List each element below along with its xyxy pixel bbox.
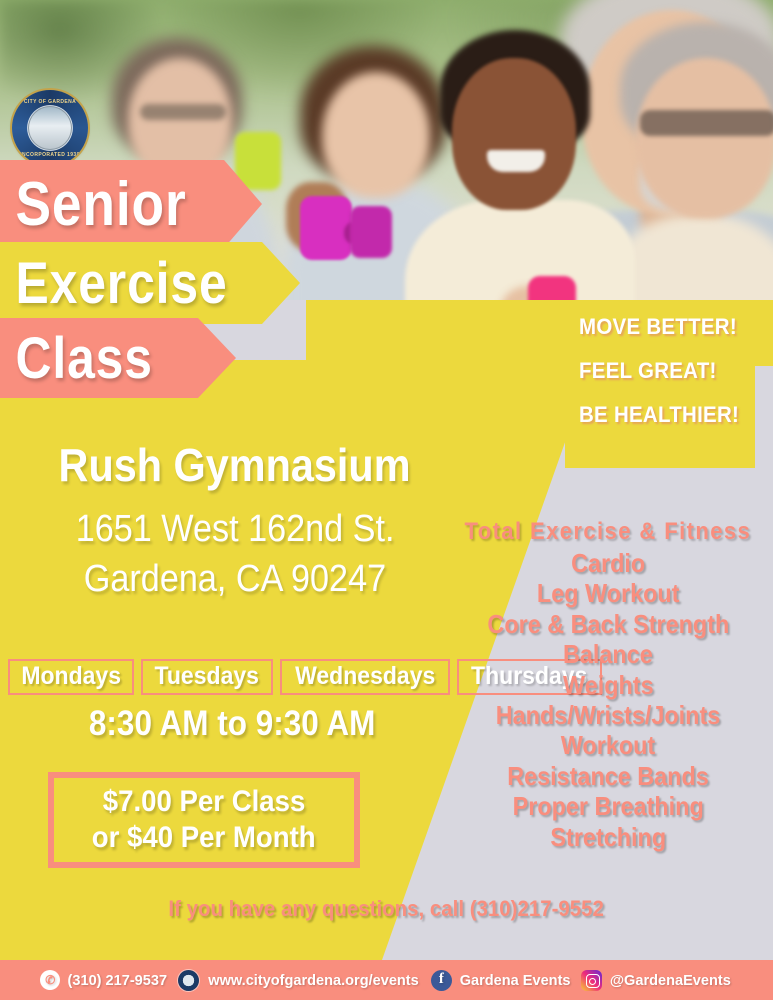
exercise-item: Core & Back Strength <box>443 609 773 639</box>
day-tag-wednesday-label: Wednesdays <box>295 663 435 689</box>
footer-website-label: www.cityofgardena.org/events <box>208 972 418 989</box>
venue-street: 1651 West 162nd St. <box>0 508 470 551</box>
footer-phone[interactable]: ✆ (310) 217-9537 <box>40 970 169 990</box>
facebook-icon: f <box>431 970 452 991</box>
exercise-list-title-text: Total Exercise & Fitness <box>465 518 752 546</box>
title-banner-senior: Senior <box>0 160 262 248</box>
pricing-line-1-text: $7.00 Per Class <box>103 784 306 820</box>
title-banner-exercise: Exercise <box>0 242 300 324</box>
venue-city-state-zip: Gardena, CA 90247 <box>0 558 470 601</box>
footer-website[interactable]: www.cityofgardena.org/events <box>178 970 422 991</box>
questions-line-text: If you have any questions, call (310)217… <box>169 896 605 922</box>
dumbbell-magenta-end-b <box>350 206 392 258</box>
footer-contact-bar: ✆ (310) 217-9537 www.cityofgardena.org/e… <box>0 960 773 1000</box>
footer-instagram[interactable]: @GardenaEvents <box>581 970 733 991</box>
day-tag-monday-label: Mondays <box>21 663 121 689</box>
day-tag-tuesday: Tuesdays <box>141 659 272 695</box>
exercise-item: Proper Breathing <box>443 791 773 821</box>
venue-name-text: Rush Gymnasium <box>59 438 411 492</box>
schedule-time: 8:30 AM to 9:30 AM <box>0 704 465 744</box>
exercise-item-text: Hands/Wrists/Joints Workout <box>460 700 757 761</box>
questions-line: If you have any questions, call (310)217… <box>0 896 773 922</box>
exercise-item-text: Core & Back Strength <box>487 609 729 639</box>
person-4-smile <box>487 150 545 172</box>
venue-city-state-zip-text: Gardena, CA 90247 <box>84 558 386 601</box>
motto-box: MOVE BETTER! FEEL GREAT! BE HEALTHIER! <box>565 300 755 468</box>
exercise-list: Total Exercise & Fitness Cardio Leg Work… <box>443 518 773 852</box>
flyer-page: CITY OF GARDENA INCORPORATED 1930 Senior… <box>0 0 773 1000</box>
exercise-item-text: Weights <box>563 670 654 700</box>
exercise-item: Hands/Wrists/Joints Workout <box>443 700 773 761</box>
title-line-2: Exercise <box>0 250 228 317</box>
person-1-glasses <box>140 104 226 120</box>
day-tag-monday: Mondays <box>8 659 134 695</box>
pricing-line-2: or $40 Per Month <box>82 820 325 856</box>
pricing-line-2-text: or $40 Per Month <box>92 820 316 856</box>
exercise-item-text: Cardio <box>571 548 645 578</box>
exercise-item-text: Stretching <box>550 822 666 852</box>
day-tag-tuesday-label: Tuesdays <box>155 663 259 689</box>
pricing-line-1: $7.00 Per Class <box>94 784 314 820</box>
footer-facebook-label: Gardena Events <box>460 972 571 989</box>
instagram-icon <box>581 970 602 991</box>
phone-icon: ✆ <box>40 970 60 990</box>
exercise-item-text: Resistance Bands <box>507 761 709 791</box>
exercise-item: Balance <box>443 639 773 669</box>
footer-instagram-label: @GardenaEvents <box>610 972 731 989</box>
exercise-list-title: Total Exercise & Fitness <box>443 518 773 546</box>
exercise-item: Leg Workout <box>443 578 773 608</box>
motto-line-3: BE HEALTHIER! <box>579 402 743 428</box>
exercise-item-text: Leg Workout <box>537 578 680 608</box>
exercise-item-text: Balance <box>563 639 653 669</box>
city-of-gardena-seal: CITY OF GARDENA INCORPORATED 1930 <box>12 90 88 166</box>
person-5-head <box>636 58 773 218</box>
person-4-head <box>452 58 576 210</box>
footer-facebook[interactable]: f Gardena Events <box>431 970 572 991</box>
exercise-item: Weights <box>443 670 773 700</box>
seal-text-bottom: INCORPORATED 1930 <box>12 152 88 158</box>
exercise-item: Stretching <box>443 822 773 852</box>
motto-line-1: MOVE BETTER! <box>579 314 743 340</box>
schedule-time-text: 8:30 AM to 9:30 AM <box>89 704 375 744</box>
seal-text-top: CITY OF GARDENA <box>12 99 88 105</box>
exercise-item: Resistance Bands <box>443 761 773 791</box>
title-line-1: Senior <box>0 169 187 240</box>
person-2-head <box>322 72 430 198</box>
venue-name: Rush Gymnasium <box>0 438 470 492</box>
footer-phone-label: (310) 217-9537 <box>68 972 168 989</box>
venue-street-text: 1651 West 162nd St. <box>76 508 395 551</box>
motto-line-2: FEEL GREAT! <box>579 358 743 384</box>
seal-emblem <box>28 106 72 150</box>
day-tag-wednesday: Wednesdays <box>280 659 450 695</box>
pricing-box: $7.00 Per Class or $40 Per Month <box>48 772 360 868</box>
title-line-3: Class <box>0 325 153 392</box>
exercise-item: Cardio <box>443 548 773 578</box>
title-banner-class: Class <box>0 318 236 398</box>
city-seal-icon <box>178 970 199 991</box>
person-5-glasses <box>640 110 773 136</box>
exercise-item-text: Proper Breathing <box>512 791 703 821</box>
